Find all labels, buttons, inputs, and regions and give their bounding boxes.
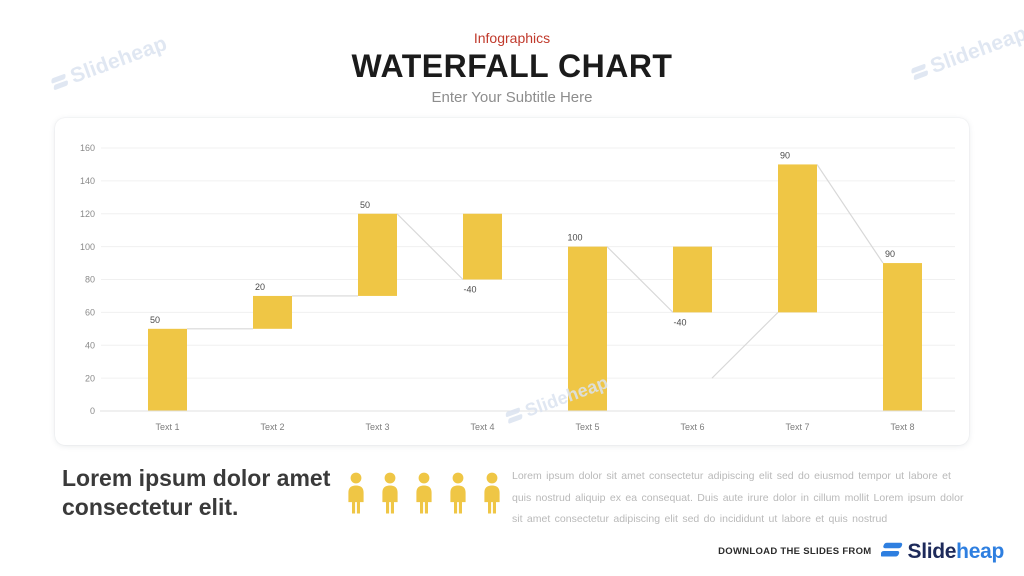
x-category-label-5: Text 5: [575, 422, 599, 432]
slide-header: Infographics WATERFALL CHART Enter Your …: [0, 30, 1024, 106]
x-category-label-6: Text 6: [680, 422, 704, 432]
y-tick-label: 100: [80, 242, 95, 252]
y-axis-tick-labels: 020406080100120140160: [80, 143, 95, 416]
bar-value-label-6: -40: [673, 317, 686, 327]
bottom-body-copy: Lorem ipsum dolor sit amet consectetur a…: [512, 466, 972, 531]
chart-svg: 020406080100120140160 502050-40100-40909…: [55, 118, 969, 445]
x-category-label-3: Text 3: [365, 422, 389, 432]
y-tick-label: 0: [90, 406, 95, 416]
x-category-label-4: Text 4: [470, 422, 494, 432]
bar-value-label-2: 20: [255, 282, 265, 292]
page-subtitle: Enter Your Subtitle Here: [0, 89, 1024, 106]
person-icon: [413, 472, 435, 514]
slideheap-brand[interactable]: Slideheap: [881, 540, 1004, 562]
bar-7[interactable]: [778, 164, 817, 312]
bar-3[interactable]: [358, 214, 397, 296]
x-category-label-2: Text 2: [260, 422, 284, 432]
bar-value-label-1: 50: [150, 315, 160, 325]
x-category-label-8: Text 8: [890, 422, 914, 432]
bottom-headline: Lorem ipsum dolor amet consectetur elit.: [62, 464, 342, 522]
bar-value-label-5: 100: [567, 233, 582, 243]
y-tick-label: 20: [85, 373, 95, 383]
eyebrow-label: Infographics: [0, 30, 1024, 46]
people-icon-group: [345, 472, 503, 514]
x-category-label-1: Text 1: [155, 422, 179, 432]
bar-8[interactable]: [883, 263, 922, 411]
person-icon: [345, 472, 367, 514]
brand-wordmark: Slideheap: [907, 541, 1004, 562]
person-icon: [447, 472, 469, 514]
waterfall-chart: 020406080100120140160 502050-40100-40909…: [55, 118, 969, 445]
x-category-label-7: Text 7: [785, 422, 809, 432]
brand-word-second: heap: [956, 540, 1004, 563]
bar-value-label-4: -40: [463, 285, 476, 295]
page-title: WATERFALL CHART: [0, 48, 1024, 85]
y-tick-label: 40: [85, 340, 95, 350]
footer-branding: DOWNLOAD THE SLIDES FROM Slideheap: [718, 540, 1004, 562]
bar-6[interactable]: [673, 247, 712, 313]
y-tick-label: 160: [80, 143, 95, 153]
brand-word-first: Slide: [907, 540, 956, 563]
bar-2[interactable]: [253, 296, 292, 329]
bar-value-label-7: 90: [780, 150, 790, 160]
x-axis-category-labels: Text 1Text 2Text 3Text 4Text 5Text 6Text…: [155, 422, 914, 432]
footer-label: DOWNLOAD THE SLIDES FROM: [718, 546, 871, 557]
slideheap-logo-icon: [881, 540, 903, 562]
chart-card: 020406080100120140160 502050-40100-40909…: [55, 118, 969, 445]
chart-gridlines: [101, 148, 955, 378]
bar-5[interactable]: [568, 247, 607, 411]
person-icon: [481, 472, 503, 514]
bar-value-label-8: 90: [885, 249, 895, 259]
bar-value-label-3: 50: [360, 200, 370, 210]
person-icon: [379, 472, 401, 514]
y-tick-label: 140: [80, 176, 95, 186]
y-tick-label: 120: [80, 209, 95, 219]
bar-1[interactable]: [148, 329, 187, 411]
y-tick-label: 60: [85, 308, 95, 318]
y-tick-label: 80: [85, 275, 95, 285]
bar-4[interactable]: [463, 214, 502, 280]
